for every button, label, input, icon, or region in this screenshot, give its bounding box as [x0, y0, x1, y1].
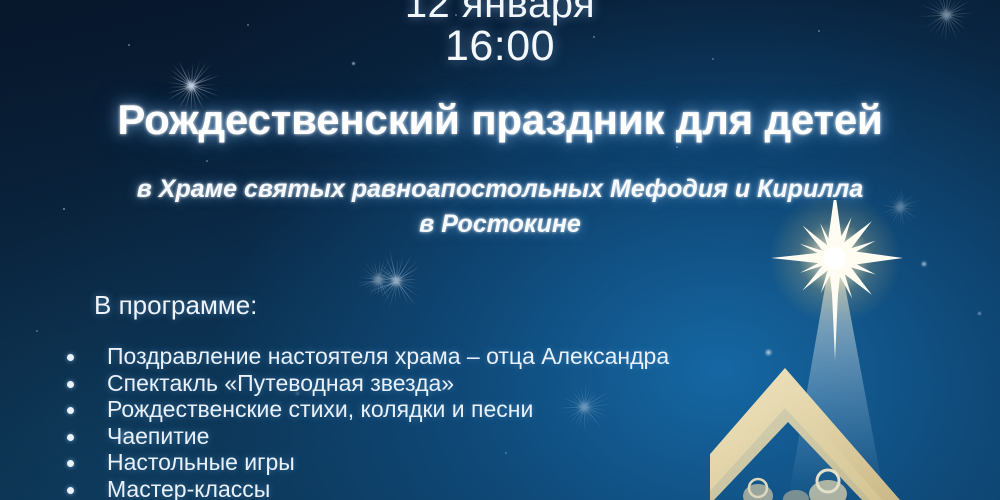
event-time: 16:00 [0, 22, 1000, 71]
programme-list: Поздравление настоятеля храма – отца Але… [62, 343, 669, 500]
bullet-icon [67, 434, 74, 441]
bullet-icon [67, 460, 74, 467]
list-item: Чаепитие [62, 423, 669, 450]
list-item: Настольные игры [62, 449, 669, 476]
list-item-label: Рождественские стихи, колядки и песни [107, 396, 533, 422]
bullet-icon [67, 407, 74, 414]
list-item-label: Поздравление настоятеля храма – отца Але… [107, 343, 669, 369]
list-item: Мастер-классы [62, 476, 669, 500]
list-item: Спектакль «Путеводная звезда» [62, 370, 669, 397]
poster-text-content: 12 января 16:00 Рождественский праздник … [0, 0, 1000, 500]
list-item-label: Чаепитие [107, 423, 209, 449]
bullet-icon [67, 487, 74, 494]
list-item-label: Настольные игры [107, 449, 295, 475]
page-title: Рождественский праздник для детей [0, 96, 1000, 144]
bullet-icon [67, 354, 74, 361]
event-venue: в Храме святых равноапостольных Мефодия … [0, 172, 1000, 242]
list-item-label: Мастер-классы [107, 476, 270, 500]
list-item: Поздравление настоятеля храма – отца Але… [62, 343, 669, 370]
venue-line-2: в Ростокине [0, 207, 1000, 242]
list-item: Рождественские стихи, колядки и песни [62, 396, 669, 423]
programme-heading: В программе: [94, 290, 257, 321]
bullet-icon [67, 381, 74, 388]
christmas-event-poster: 12 января 16:00 Рождественский праздник … [0, 0, 1000, 500]
venue-line-1: в Храме святых равноапостольных Мефодия … [137, 175, 863, 203]
list-item-label: Спектакль «Путеводная звезда» [107, 370, 454, 396]
